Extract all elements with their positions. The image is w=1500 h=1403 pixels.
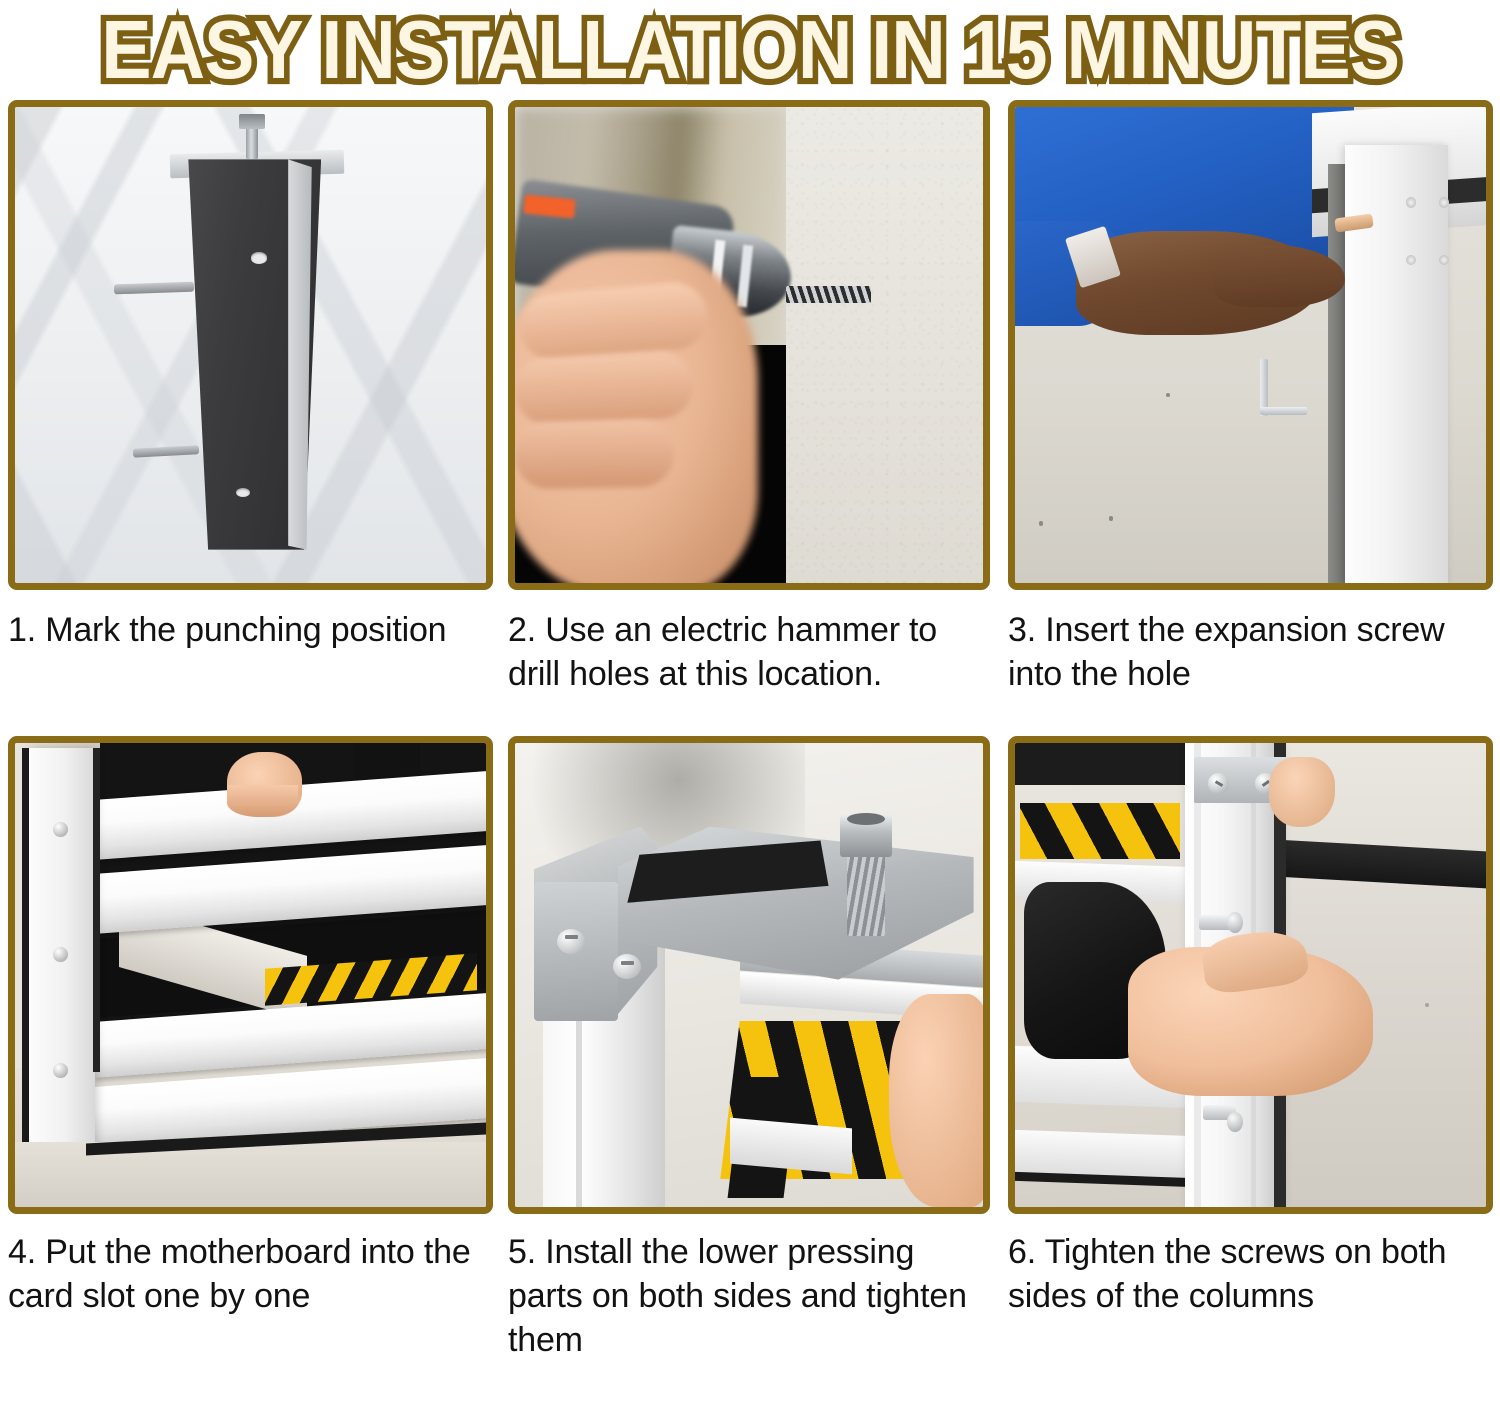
top-dark-band <box>1015 743 1203 785</box>
side-screw-lower-head <box>1227 1112 1243 1132</box>
installer-fingers <box>227 785 298 817</box>
step-6-caption: 6. Tighten the screws on both sides of t… <box>1008 1230 1493 1318</box>
bracket-screw-1-slot <box>565 935 578 939</box>
pressing-bracket-photo <box>515 743 983 1207</box>
column-slot-screw-3 <box>53 1063 68 1078</box>
hazard-stripe-tape <box>1020 803 1180 859</box>
column-slot-screw-2 <box>53 947 68 962</box>
step-4-cell: 4. Put the motherboard into the card slo… <box>8 736 493 1318</box>
installation-steps-grid: 1. Mark the punching position <box>0 100 1500 1403</box>
floor-speck-3 <box>1039 521 1044 526</box>
step-2-photo <box>508 100 990 590</box>
motherboard-slot-photo <box>15 743 486 1207</box>
second-hand-holding-column <box>1269 757 1335 827</box>
white-column <box>1345 145 1449 583</box>
top-bolt-head-icon <box>239 114 264 129</box>
column-screw-2 <box>1439 197 1449 207</box>
side-screw-upper-head <box>1227 912 1243 933</box>
drill-bit-icon <box>786 286 870 303</box>
step-4-caption: 4. Put the motherboard into the card slo… <box>8 1230 493 1318</box>
step-4-photo <box>8 736 493 1214</box>
step-6-photo <box>1008 736 1493 1214</box>
upper-mounting-hole <box>251 252 268 263</box>
step-5-cell: 5. Install the lower pressing parts on b… <box>508 736 990 1363</box>
drilling-wall-photo <box>515 107 983 583</box>
finger-2 <box>515 350 694 426</box>
step-2-cell: 2. Use an electric hammer to drill holes… <box>508 100 990 696</box>
step-5-photo <box>508 736 990 1214</box>
threaded-bolt-socket-icon <box>847 813 884 825</box>
column-slot-screw-1 <box>53 822 68 837</box>
threaded-bolt-shaft-icon <box>847 852 884 936</box>
step-5-caption: 5. Install the lower pressing parts on b… <box>508 1230 990 1363</box>
step-3-cell: 3. Insert the expansion screw into the h… <box>1008 100 1493 696</box>
bracket-screw-2-slot <box>621 961 634 965</box>
step-3-photo <box>1008 100 1493 590</box>
steps-row-bottom: 4. Put the motherboard into the card slo… <box>0 736 1500 1403</box>
steps-row-top: 1. Mark the punching position <box>0 100 1500 736</box>
column-post-photo <box>15 107 486 583</box>
allen-key-short-arm-icon <box>1260 407 1307 416</box>
page-title: EASY INSTALLATION IN 15 MINUTES <box>101 9 1399 92</box>
expansion-screw-photo <box>1015 107 1486 583</box>
installer-fingers <box>889 994 983 1207</box>
finger-3 <box>515 420 675 489</box>
banner: EASY INSTALLATION IN 15 MINUTES <box>0 0 1500 100</box>
step-1-caption: 1. Mark the punching position <box>8 608 493 652</box>
step-6-cell: 6. Tighten the screws on both sides of t… <box>1008 736 1493 1318</box>
step-1-cell: 1. Mark the punching position <box>8 100 493 652</box>
column-dark-stripe-right <box>93 748 101 1073</box>
tighten-screws-photo <box>1015 743 1486 1207</box>
textured-white-wall <box>786 107 983 583</box>
step-2-caption: 2. Use an electric hammer to drill holes… <box>508 608 990 696</box>
step-1-photo <box>8 100 493 590</box>
bracket-screw-1 <box>557 929 585 954</box>
step-3-caption: 3. Insert the expansion screw into the h… <box>1008 608 1493 696</box>
